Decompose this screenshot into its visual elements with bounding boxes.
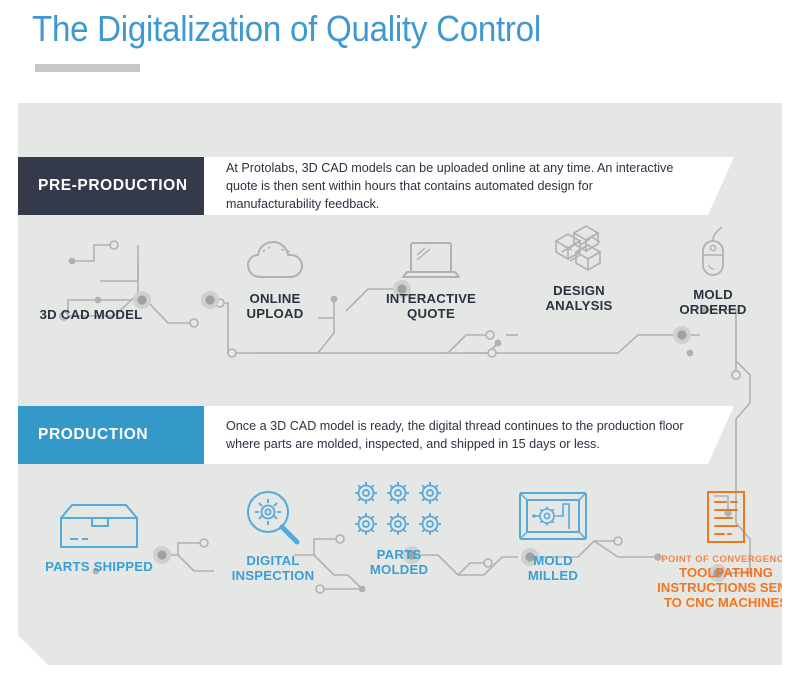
convergence-eyebrow: POINT OF CONVERGENCE: [652, 553, 800, 564]
toolpath-document-icon: [652, 489, 800, 547]
computer-mouse-icon: [648, 223, 778, 281]
step-interactive-quote: INTERACTIVE QUOTE: [366, 227, 496, 322]
step-label-parts-molded: PARTS MOLDED: [334, 548, 464, 578]
laptop-icon: [366, 227, 496, 285]
section-body-pre-production: At Protolabs, 3D CAD models can be uploa…: [204, 157, 734, 215]
circuit-board-icon: [26, 243, 156, 301]
magnifier-gear-icon: [208, 489, 338, 547]
step-parts-shipped: PARTS SHIPPED: [34, 495, 164, 575]
step-point-of-convergence: POINT OF CONVERGENCE TOOLPATHING INSTRUC…: [652, 489, 800, 610]
3d-lattice-icon: [514, 219, 644, 277]
step-label-digital-inspection: DIGITAL INSPECTION: [208, 554, 338, 584]
content-panel: PRE-PRODUCTION At Protolabs, 3D CAD mode…: [18, 103, 782, 665]
six-gears-icon: [334, 483, 464, 541]
step-label-parts-shipped: PARTS SHIPPED: [34, 560, 164, 575]
step-label-online-upload: ONLINE UPLOAD: [210, 292, 340, 322]
step-mold-ordered: MOLD ORDERED: [648, 223, 778, 318]
title-underline-rule: [35, 64, 140, 72]
step-online-upload: ONLINE UPLOAD: [210, 227, 340, 322]
convergence-label: TOOLPATHING INSTRUCTIONS SENT TO CNC MAC…: [652, 565, 800, 610]
infographic-page: The Digitalization of Quality Control: [0, 0, 800, 679]
section-body-text-production: Once a 3D CAD model is ready, the digita…: [226, 417, 690, 454]
cnc-screen-gear-icon: [488, 489, 618, 547]
step-3d-cad-model: 3D CAD MODEL: [26, 243, 156, 323]
step-label-interactive-quote: INTERACTIVE QUOTE: [366, 292, 496, 322]
section-tag-pre-production: PRE-PRODUCTION: [18, 157, 230, 215]
step-mold-milled: MOLD MILLED: [488, 489, 618, 584]
shipping-box-icon: [34, 495, 164, 553]
step-parts-molded: PARTS MOLDED: [334, 483, 464, 578]
step-label-mold-milled: MOLD MILLED: [488, 554, 618, 584]
page-title: The Digitalization of Quality Control: [32, 8, 541, 50]
step-label-3d-cad-model: 3D CAD MODEL: [26, 308, 156, 323]
step-label-mold-ordered: MOLD ORDERED: [648, 288, 778, 318]
section-body-text-pre-production: At Protolabs, 3D CAD models can be uploa…: [226, 159, 690, 214]
step-digital-inspection: DIGITAL INSPECTION: [208, 489, 338, 584]
cloud-upload-icon: [210, 227, 340, 285]
section-tag-production: PRODUCTION: [18, 406, 230, 464]
step-label-design-analysis: DESIGN ANALYSIS: [514, 284, 644, 314]
section-body-production: Once a 3D CAD model is ready, the digita…: [204, 406, 734, 464]
step-design-analysis: DESIGN ANALYSIS: [514, 219, 644, 314]
